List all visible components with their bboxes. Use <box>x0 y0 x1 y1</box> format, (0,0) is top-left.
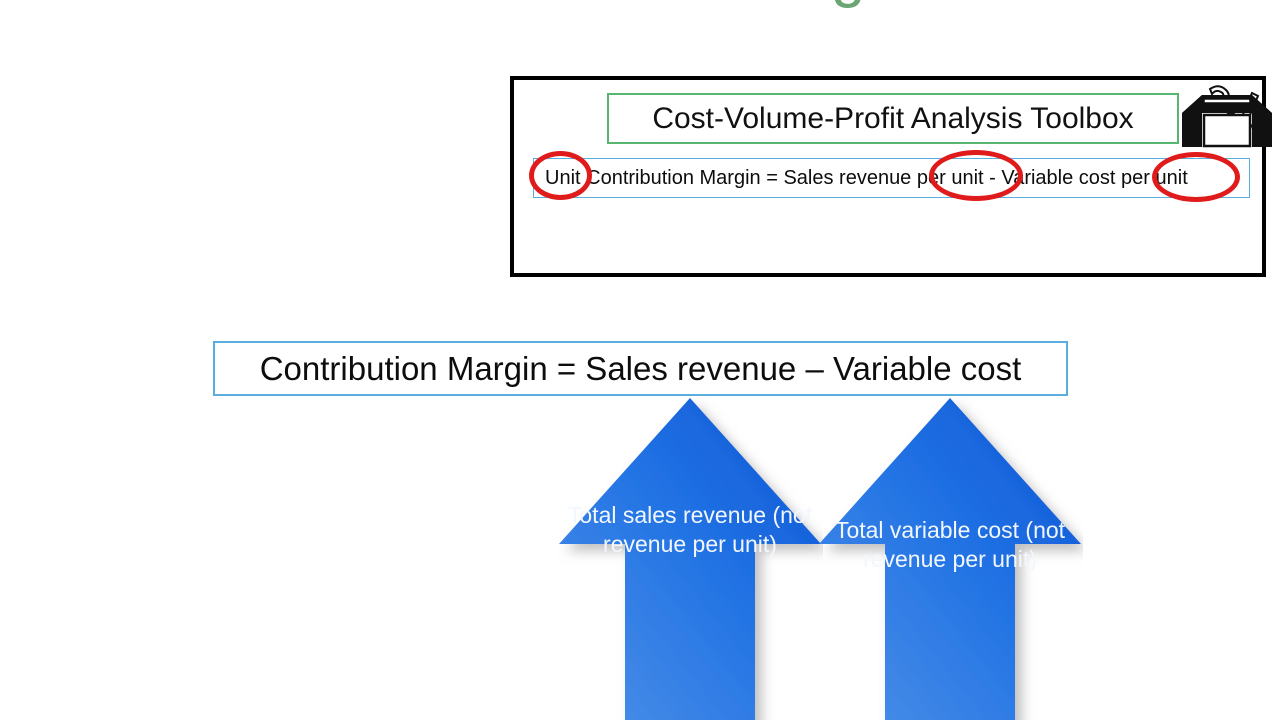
main-formula-box: Contribution Margin = Sales revenue – Va… <box>213 341 1068 396</box>
slide-canvas: Contribution Margin Cost-Volume-Profit A… <box>0 0 1280 720</box>
page-title: Contribution Margin <box>0 0 1280 6</box>
main-formula-label: Contribution Margin = Sales revenue – Va… <box>260 350 1022 388</box>
arrow-total-sales-revenue: Total sales revenue (not revenue per uni… <box>557 396 823 720</box>
cvp-toolbox-panel: Cost-Volume-Profit Analysis Toolbox Unit… <box>510 76 1266 277</box>
toolbox-formula-box: Unit Contribution Margin = Sales revenue… <box>533 158 1250 198</box>
toolbox-title-box: Cost-Volume-Profit Analysis Toolbox <box>607 93 1179 144</box>
toolbox-title-label: Cost-Volume-Profit Analysis Toolbox <box>652 102 1133 136</box>
toolbox-formula-label: Unit Contribution Margin = Sales revenue… <box>545 167 1188 190</box>
toolbox-icon <box>1178 83 1276 155</box>
arrow-total-variable-cost: Total variable cost (not revenue per uni… <box>817 396 1083 720</box>
